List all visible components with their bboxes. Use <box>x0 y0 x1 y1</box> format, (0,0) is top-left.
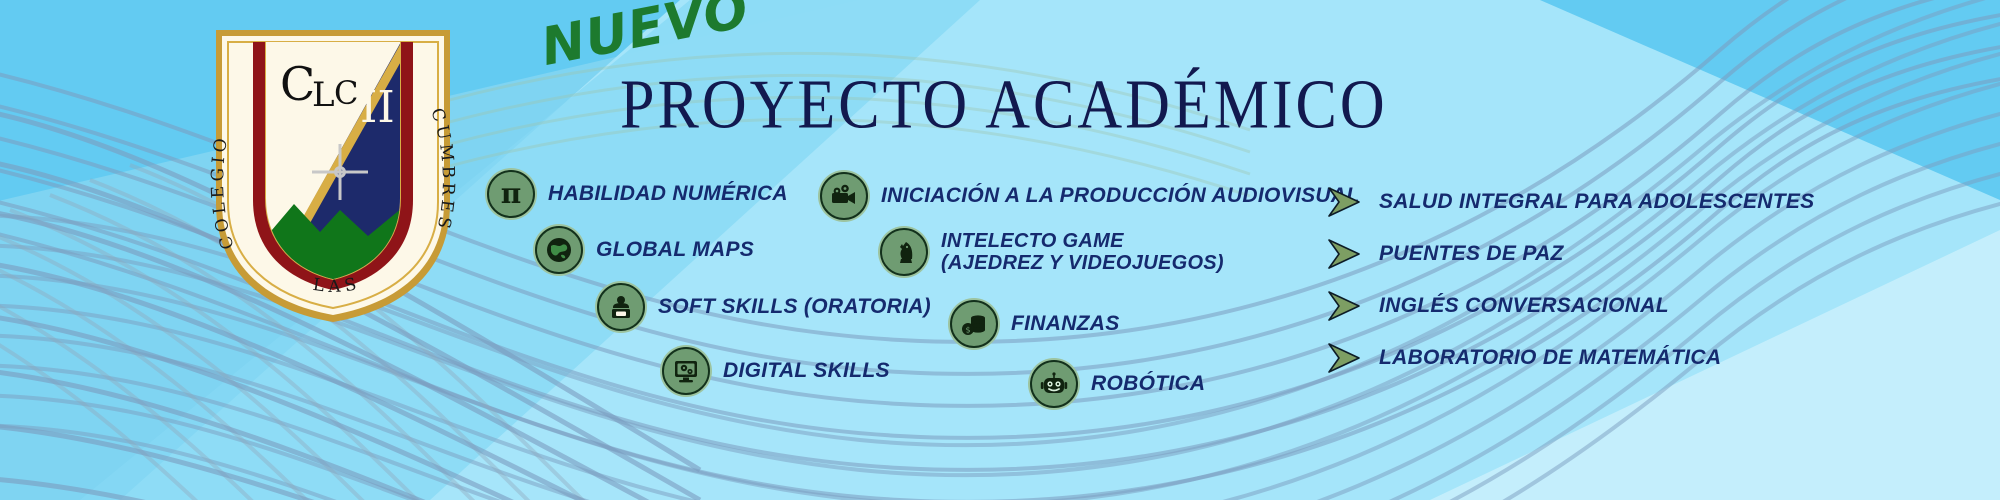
list-item-label: INGLÉS CONVERSACIONAL <box>1379 294 1669 318</box>
monitor-gears-icon <box>662 347 710 395</box>
svg-text:L: L <box>312 75 335 115</box>
svg-text:C: C <box>334 74 358 112</box>
podium-speaker-icon <box>597 283 645 331</box>
list-item-label: FINANZAS <box>1011 312 1120 336</box>
chevron-arrow-icon <box>1325 237 1365 271</box>
list-item[interactable]: ROBÓTICA <box>1030 360 1205 408</box>
chevron-arrow-icon <box>1325 289 1365 323</box>
list-item-label: SALUD INTEGRAL PARA ADOLESCENTES <box>1379 190 1814 214</box>
list-item-label-group: INTELECTO GAME (AJEDREZ Y VIDEOJUEGOS) <box>941 230 1224 275</box>
list-item-label: ROBÓTICA <box>1091 372 1205 396</box>
chevron-arrow-icon <box>1325 185 1365 219</box>
chess-knight-icon <box>880 228 928 276</box>
list-item[interactable]: SALUD INTEGRAL PARA ADOLESCENTES <box>1325 185 1814 219</box>
robot-icon <box>1030 360 1078 408</box>
list-item[interactable]: INICIACIÓN A LA PRODUCCIÓN AUDIOVISUAL <box>820 172 1359 220</box>
list-item-label: INTELECTO GAME <box>941 230 1124 252</box>
list-item-label: HABILIDAD NUMÉRICA <box>548 182 788 206</box>
list-item[interactable]: INTELECTO GAME (AJEDREZ Y VIDEOJUEGOS) <box>880 228 1224 276</box>
page-title: PROYECTO ACADÉMICO <box>620 66 1388 146</box>
list-item[interactable]: LABORATORIO DE MATEMÁTICA <box>1325 341 1721 375</box>
globe-icon <box>535 226 583 274</box>
list-item-label: LABORATORIO DE MATEMÁTICA <box>1379 346 1721 370</box>
list-item-label: DIGITAL SKILLS <box>723 359 890 383</box>
pi-symbol-icon: π <box>487 170 535 218</box>
video-camera-icon <box>820 172 868 220</box>
list-item[interactable]: SOFT SKILLS (ORATORIA) <box>597 283 931 331</box>
svg-text:LAS: LAS <box>312 273 364 297</box>
list-item[interactable]: $ FINANZAS <box>950 300 1120 348</box>
list-item[interactable]: INGLÉS CONVERSACIONAL <box>1325 289 1669 323</box>
list-item[interactable]: DIGITAL SKILLS <box>662 347 890 395</box>
svg-text:C: C <box>280 57 315 111</box>
list-item-label: SOFT SKILLS (ORATORIA) <box>658 295 931 319</box>
coins-icon: $ <box>950 300 998 348</box>
list-item[interactable]: π HABILIDAD NUMÉRICA <box>487 170 788 218</box>
pi-glyph: π <box>501 180 522 208</box>
list-item-label: GLOBAL MAPS <box>596 238 754 262</box>
list-item[interactable]: PUENTES DE PAZ <box>1325 237 1564 271</box>
svg-text:II: II <box>360 82 395 133</box>
svg-text:$: $ <box>965 326 970 335</box>
promo-banner: C L C II COLEGIO CUMBRES LAS NUEVO PROYE… <box>0 0 2000 500</box>
list-item-sublabel: (AJEDREZ Y VIDEOJUEGOS) <box>941 252 1224 274</box>
list-item-label: PUENTES DE PAZ <box>1379 242 1564 266</box>
list-item[interactable]: GLOBAL MAPS <box>535 226 754 274</box>
chevron-arrow-icon <box>1325 341 1365 375</box>
school-crest-logo: C L C II COLEGIO CUMBRES LAS <box>208 22 458 327</box>
list-item-label: INICIACIÓN A LA PRODUCCIÓN AUDIOVISUAL <box>881 184 1359 208</box>
